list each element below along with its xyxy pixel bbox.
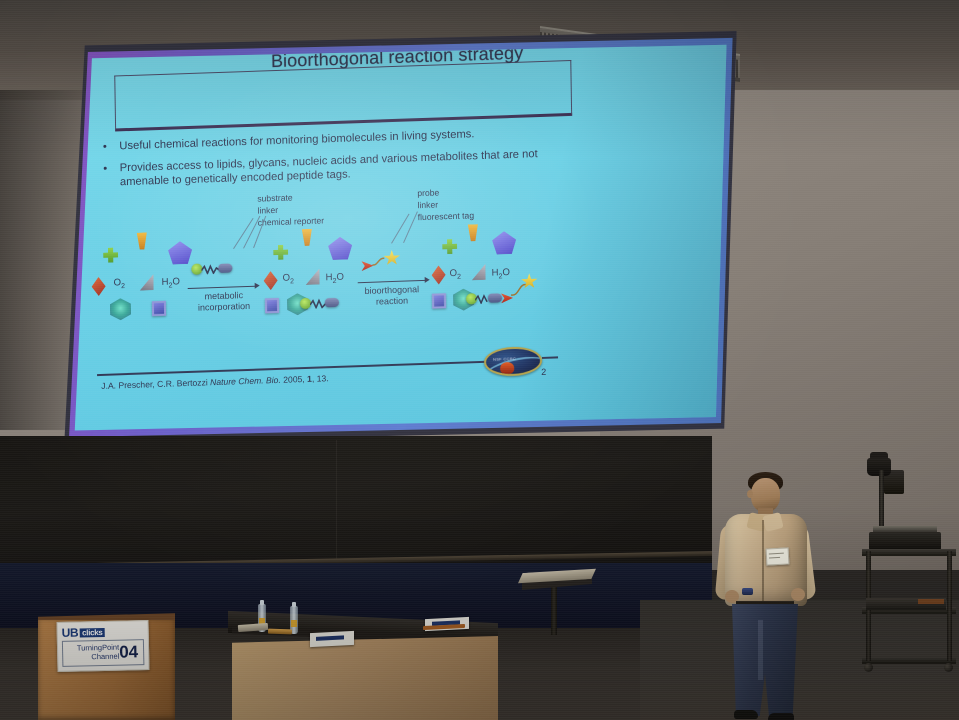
badge-text-line xyxy=(769,553,784,555)
green-cross-shape xyxy=(442,239,457,255)
blue-pentagon-shape xyxy=(328,236,352,260)
turningpoint-labels: TurningPoint Channel xyxy=(63,644,119,662)
label-fluorescent-tag: fluorescent tag xyxy=(418,210,475,223)
leader-line xyxy=(243,216,260,249)
label-chemical-reporter: chemical reporter xyxy=(258,215,325,229)
teal-hexagon-shape xyxy=(110,298,131,321)
cart-stored-item-accent xyxy=(918,599,944,604)
clicks-logo-text: clicks xyxy=(80,627,105,637)
label-linker-left: linker xyxy=(257,205,278,217)
red-diamond-shape xyxy=(431,265,445,284)
reporter-circle xyxy=(466,293,477,304)
channel-box: TurningPoint Channel 04 xyxy=(62,639,145,667)
gray-triangle-shape xyxy=(305,269,319,285)
citation-authors: J.A. Prescher, C.R. Bertozzi xyxy=(101,377,208,391)
citation-page: , 13. xyxy=(312,373,329,384)
blue-square-shape xyxy=(432,293,446,308)
substrate-tag xyxy=(325,298,339,307)
footer-divider-right xyxy=(542,356,558,359)
label-o2: O2 xyxy=(283,272,295,285)
bullet-item: Provides access to lipids, glycans, nucl… xyxy=(92,146,572,190)
reaction-1-line1: metabolic xyxy=(186,289,262,303)
orange-trapezoid-shape xyxy=(300,229,314,246)
label-h2o: H2O xyxy=(162,276,181,290)
leader-line xyxy=(391,214,409,244)
cart-shelf-bottom xyxy=(862,657,956,664)
reaction-arrow-2 xyxy=(358,280,426,283)
reporter-circle xyxy=(191,263,202,274)
blue-pentagon-shape xyxy=(168,241,192,265)
logo-flame xyxy=(500,362,514,374)
substrate-tag xyxy=(218,263,232,272)
reporter-circle xyxy=(300,298,311,309)
projected-slide: Bioorthogonal reaction strategy Useful c… xyxy=(69,40,730,436)
institution-logo: NSF CCRC xyxy=(484,346,542,377)
teal-hexagon-labeled xyxy=(287,293,308,316)
slide-bullet-list: Useful chemical reactions for monitoring… xyxy=(91,124,572,198)
orange-trapezoid-shape xyxy=(135,232,149,249)
ub-logo-text: UB xyxy=(62,626,79,640)
blue-square-shape xyxy=(265,298,279,313)
label-h2o: H2O xyxy=(326,272,345,286)
leader-line xyxy=(253,216,266,248)
probe-linker-curve xyxy=(511,280,531,299)
leader-line xyxy=(233,218,253,249)
presenter-ear xyxy=(747,490,753,498)
probe-linker-curve xyxy=(372,254,390,271)
fluorescent-star xyxy=(383,250,400,267)
chalkboard xyxy=(0,436,712,571)
probe-arrowhead xyxy=(361,261,373,271)
presenter-head xyxy=(751,478,780,512)
lectern-post xyxy=(551,585,557,635)
label-o2: O2 xyxy=(113,277,125,290)
ohp-arm xyxy=(879,470,884,530)
fluorescent-star xyxy=(521,273,538,290)
blue-pentagon-shape xyxy=(492,231,516,255)
name-badge xyxy=(766,547,790,565)
projection-screen: Bioorthogonal reaction strategy Useful c… xyxy=(64,31,736,443)
probe-arrowhead xyxy=(501,293,513,303)
citation-journal: Nature Chem. Bio. xyxy=(210,375,281,387)
turningpoint-line2: Channel xyxy=(67,653,119,663)
presenter-jeans xyxy=(732,604,798,716)
ub-clicks-branding: UB clicks xyxy=(62,624,144,640)
chalkboard-seam xyxy=(336,440,337,562)
citation-year: 2005, xyxy=(283,374,305,385)
reaction-1-line2: incorporation xyxy=(181,300,267,314)
presenter-shoe-left xyxy=(734,710,758,719)
equipment-cart xyxy=(862,545,956,675)
linker-squiggle xyxy=(201,264,219,275)
lecture-hall-photo: Bioorthogonal reaction strategy Useful c… xyxy=(0,0,959,720)
presenter-right-hand xyxy=(791,588,805,601)
gray-triangle-shape xyxy=(139,274,153,290)
substrate-tag xyxy=(488,293,502,302)
reaction-2-line1: bioorthogonal xyxy=(352,284,432,298)
teal-hexagon-conjugated xyxy=(453,288,474,311)
front-table-body xyxy=(232,636,498,720)
presenter xyxy=(706,470,836,720)
label-substrate: substrate xyxy=(257,192,293,205)
label-linker-right: linker xyxy=(417,199,438,211)
paper-print-strip xyxy=(316,635,344,640)
linker-squiggle xyxy=(475,294,489,304)
reaction-arrow-1 xyxy=(188,286,256,289)
cart-wheel xyxy=(944,663,953,672)
slide-citation: J.A. Prescher, C.R. Bertozzi Nature Chem… xyxy=(101,373,329,391)
label-h2o: H2O xyxy=(492,267,511,281)
cart-wheel xyxy=(864,663,873,672)
red-diamond-shape xyxy=(91,277,105,296)
label-o2: O2 xyxy=(450,268,462,281)
green-cross-shape xyxy=(103,247,118,263)
reaction-2-line2: reaction xyxy=(354,295,430,309)
label-probe: probe xyxy=(417,187,439,199)
cart-shelf-top xyxy=(862,549,956,556)
overhead-projector xyxy=(869,498,941,550)
reaction-arrow-1-head xyxy=(255,283,260,289)
badge-text-line xyxy=(769,557,780,559)
paper-sheet xyxy=(310,631,354,647)
turningpoint-channel-sign: UB clicks TurningPoint Channel 04 xyxy=(56,620,149,672)
red-diamond-shape xyxy=(263,271,277,290)
jeans-highlight xyxy=(758,620,763,680)
orange-trapezoid-shape xyxy=(466,224,480,241)
cart-leg xyxy=(947,551,952,661)
green-cross-shape xyxy=(273,245,288,261)
leader-line xyxy=(403,211,418,243)
blue-square-shape xyxy=(152,301,166,316)
linker-squiggle xyxy=(310,298,326,309)
channel-number: 04 xyxy=(119,642,143,662)
gray-triangle-shape xyxy=(471,264,485,280)
logo-text: NSF CCRC xyxy=(493,356,516,362)
jacket-zipper xyxy=(762,520,764,602)
slide-page-number: 2 xyxy=(541,367,546,377)
reaction-arrow-2-head xyxy=(425,277,430,283)
presenter-shoe-right xyxy=(768,713,794,720)
presentation-clicker xyxy=(742,588,753,595)
desk-clutter xyxy=(268,629,292,635)
